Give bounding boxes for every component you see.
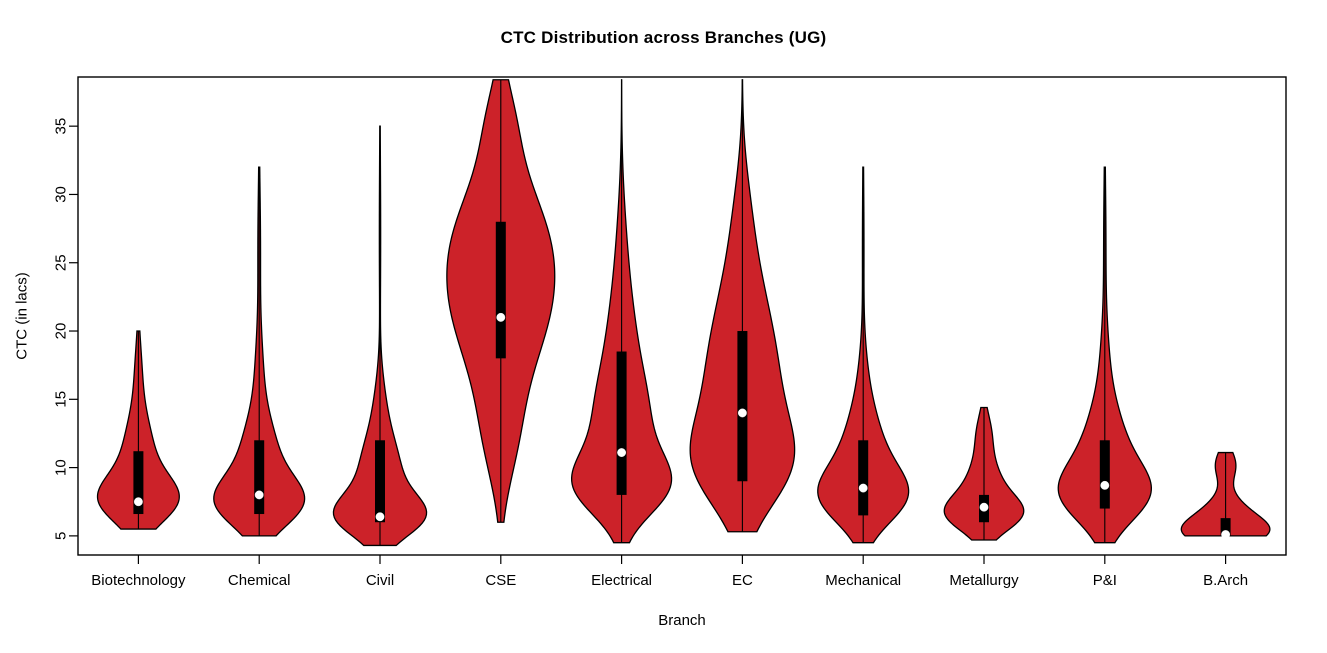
median-marker xyxy=(1101,481,1109,489)
violin-plot-page: CTC Distribution across Branches (UG) 51… xyxy=(0,0,1327,653)
y-axis-tick-label: 5 xyxy=(53,532,70,540)
x-axis-tick-label: B.Arch xyxy=(1203,572,1248,589)
x-axis-tick-label: Electrical xyxy=(591,572,652,589)
median-marker xyxy=(134,498,142,506)
x-axis-tick-label: P&I xyxy=(1093,572,1117,589)
x-axis-tick-label: Mechanical xyxy=(825,572,901,589)
iqr-box xyxy=(858,440,868,515)
y-axis-tick-label: 15 xyxy=(53,391,70,408)
y-axis-tick-label: 20 xyxy=(53,323,70,340)
x-axis-tick-label: EC xyxy=(732,572,753,589)
iqr-box xyxy=(496,222,506,359)
y-axis-title: CTC (in lacs) xyxy=(14,272,31,360)
iqr-box xyxy=(375,440,385,522)
median-marker xyxy=(497,313,505,321)
median-marker xyxy=(617,448,625,456)
x-axis-tick-label: Metallurgy xyxy=(949,572,1019,589)
median-marker xyxy=(980,503,988,511)
x-axis-tick-label: Civil xyxy=(366,572,394,589)
median-marker xyxy=(738,409,746,417)
median-marker xyxy=(859,484,867,492)
iqr-box xyxy=(1100,440,1110,508)
x-axis-tick-label: Biotechnology xyxy=(91,572,186,589)
iqr-box xyxy=(617,352,627,495)
iqr-box xyxy=(737,331,747,481)
x-axis-tick-label: CSE xyxy=(485,572,516,589)
y-axis-tick-label: 25 xyxy=(53,254,70,271)
y-axis-tick-label: 35 xyxy=(53,118,70,135)
x-axis-title: Branch xyxy=(658,612,706,629)
median-marker xyxy=(1221,530,1229,538)
violin-plot-canvas: 5101520253035CTC (in lacs)BranchBiotechn… xyxy=(0,0,1327,653)
x-axis-tick-label: Chemical xyxy=(228,572,291,589)
median-marker xyxy=(376,513,384,521)
iqr-box xyxy=(254,440,264,514)
y-axis-tick-label: 10 xyxy=(53,459,70,476)
y-axis-tick-label: 30 xyxy=(53,186,70,203)
median-marker xyxy=(255,491,263,499)
